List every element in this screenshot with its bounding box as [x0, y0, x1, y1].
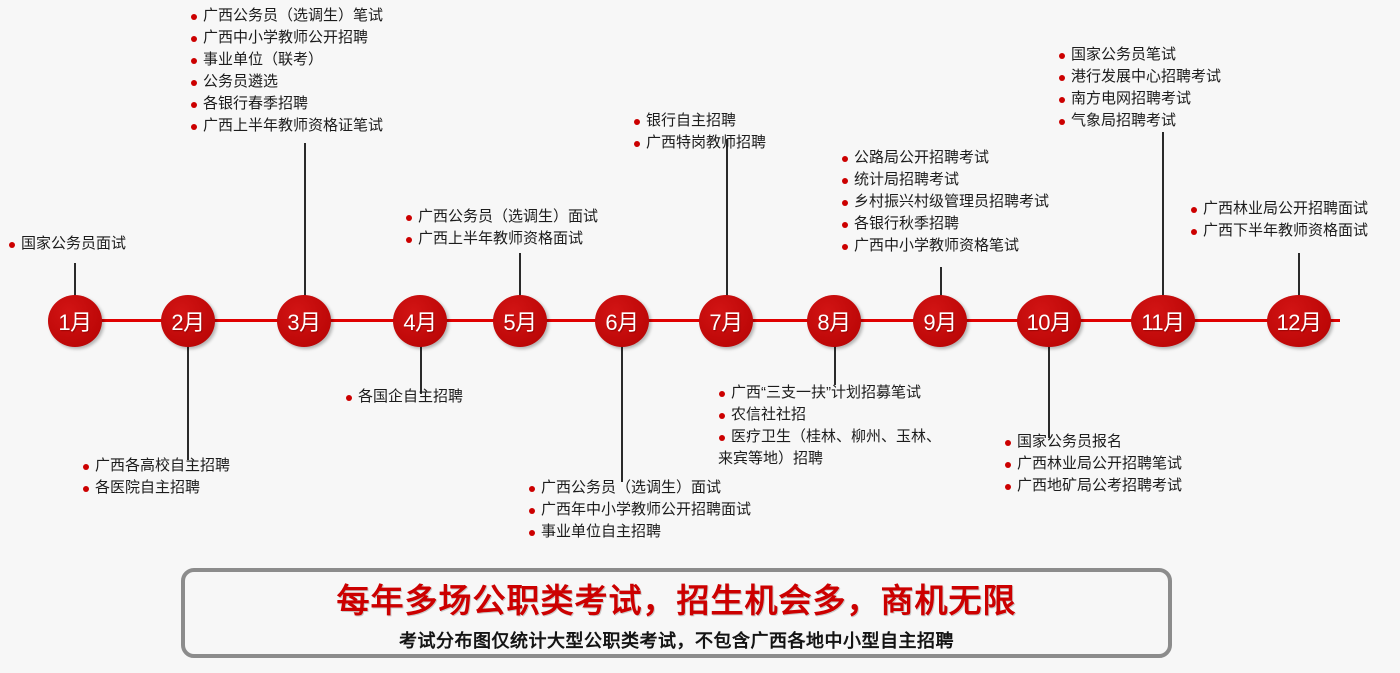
callout-item: 广西下半年教师资格面试: [1190, 220, 1368, 242]
month-node-4[interactable]: 4月: [393, 295, 447, 347]
callout-item: 各银行春季招聘: [190, 93, 383, 115]
callout-item: 统计局招聘考试: [841, 169, 1049, 191]
callout-item: 广西公务员（选调生）面试: [528, 477, 751, 499]
month-node-8[interactable]: 8月: [807, 295, 861, 347]
callout-item: 国家公务员笔试: [1058, 44, 1221, 66]
callout-group-may: 广西公务员（选调生）面试 广西上半年教师资格面试: [405, 206, 598, 250]
month-node-5[interactable]: 5月: [493, 295, 547, 347]
callout-item: 农信社社招: [718, 404, 941, 426]
callout-group-jan: 国家公务员面试: [8, 233, 126, 255]
callout-item: 南方电网招聘考试: [1058, 88, 1221, 110]
connector-stem-feb: [187, 345, 189, 460]
callout-group-oct: 国家公务员报名 广西林业局公开招聘笔试 广西地矿局公考招聘考试: [1004, 431, 1182, 497]
callout-group-jul: 银行自主招聘 广西特岗教师招聘: [633, 110, 766, 154]
callout-group-dec: 广西林业局公开招聘面试 广西下半年教师资格面试: [1190, 198, 1368, 242]
callout-item: 广西各高校自主招聘: [82, 455, 230, 477]
month-node-11[interactable]: 11月: [1131, 295, 1195, 347]
callout-item: 广西中小学教师公开招聘: [190, 27, 383, 49]
banner-title: 每年多场公职类考试，招生机会多，商机无限: [337, 574, 1017, 622]
month-node-7[interactable]: 7月: [699, 295, 753, 347]
callout-item: 港行发展中心招聘考试: [1058, 66, 1221, 88]
month-node-3[interactable]: 3月: [277, 295, 331, 347]
month-node-1[interactable]: 1月: [48, 295, 102, 347]
connector-stem-jul: [726, 139, 728, 296]
callout-item: 事业单位（联考）: [190, 49, 383, 71]
callout-item: 各银行秋季招聘: [841, 213, 1049, 235]
month-node-10[interactable]: 10月: [1017, 295, 1081, 347]
callout-item: 广西上半年教师资格面试: [405, 228, 598, 250]
callout-item: 各国企自主招聘: [345, 386, 463, 408]
callout-group-nov: 国家公务员笔试 港行发展中心招聘考试 南方电网招聘考试 气象局招聘考试: [1058, 44, 1221, 132]
connector-stem-nov: [1162, 132, 1164, 296]
callout-item: 广西上半年教师资格证笔试: [190, 115, 383, 137]
callout-item: 广西公务员（选调生）笔试: [190, 5, 383, 27]
callout-item: 各医院自主招聘: [82, 477, 230, 499]
callout-item: 广西林业局公开招聘面试: [1190, 198, 1368, 220]
callout-item: 乡村振兴村级管理员招聘考试: [841, 191, 1049, 213]
connector-stem-jun: [621, 345, 623, 482]
callout-item-text: 医疗卫生（桂林、柳州、玉林、: [731, 428, 941, 445]
summary-banner: 每年多场公职类考试，招生机会多，商机无限 考试分布图仅统计大型公职类考试，不包含…: [181, 568, 1172, 658]
callout-item: 广西林业局公开招聘笔试: [1004, 453, 1182, 475]
connector-stem-oct: [1048, 345, 1050, 438]
callout-item: 国家公务员报名: [1004, 431, 1182, 453]
month-node-6[interactable]: 6月: [595, 295, 649, 347]
callout-group-apr: 各国企自主招聘: [345, 386, 463, 408]
callout-group-feb: 广西各高校自主招聘 各医院自主招聘: [82, 455, 230, 499]
connector-stem-aug: [834, 345, 836, 385]
callout-item: 国家公务员面试: [8, 233, 126, 255]
timeline-infographic: 1月 2月 3月 4月 5月 6月 7月 8月 9月 10月 11月 12月 国…: [0, 0, 1400, 673]
callout-item: 银行自主招聘: [633, 110, 766, 132]
callout-group-aug: 广西“三支一扶”计划招募笔试 农信社社招 医疗卫生（桂林、柳州、玉林、来宾等地）…: [718, 382, 941, 470]
connector-stem-sep: [940, 267, 942, 296]
callout-item: 广西地矿局公考招聘考试: [1004, 475, 1182, 497]
callout-item: 广西中小学教师资格笔试: [841, 235, 1049, 257]
callout-item: 广西公务员（选调生）面试: [405, 206, 598, 228]
month-node-12[interactable]: 12月: [1267, 295, 1331, 347]
month-node-9[interactable]: 9月: [913, 295, 967, 347]
banner-subtitle: 考试分布图仅统计大型公职类考试，不包含广西各地中小型自主招聘: [399, 627, 954, 653]
callout-group-sep: 公路局公开招聘考试 统计局招聘考试 乡村振兴村级管理员招聘考试 各银行秋季招聘 …: [841, 147, 1049, 257]
callout-item: 医疗卫生（桂林、柳州、玉林、来宾等地）招聘: [718, 426, 941, 470]
month-node-2[interactable]: 2月: [161, 295, 215, 347]
connector-stem-jan: [74, 263, 76, 296]
callout-item: 公路局公开招聘考试: [841, 147, 1049, 169]
callout-group-jun: 广西公务员（选调生）面试 广西年中小学教师公开招聘面试 事业单位自主招聘: [528, 477, 751, 543]
connector-stem-mar: [304, 143, 306, 296]
callout-item: 气象局招聘考试: [1058, 110, 1221, 132]
callout-item: 公务员遴选: [190, 71, 383, 93]
callout-item: 广西特岗教师招聘: [633, 132, 766, 154]
callout-item: 广西年中小学教师公开招聘面试: [528, 499, 751, 521]
connector-stem-may: [519, 253, 521, 296]
callout-group-mar: 广西公务员（选调生）笔试 广西中小学教师公开招聘 事业单位（联考） 公务员遴选 …: [190, 5, 383, 137]
callout-item: 广西“三支一扶”计划招募笔试: [718, 382, 941, 404]
connector-stem-dec: [1298, 253, 1300, 296]
callout-item-continuation: 来宾等地）招聘: [718, 448, 941, 470]
callout-item: 事业单位自主招聘: [528, 521, 751, 543]
